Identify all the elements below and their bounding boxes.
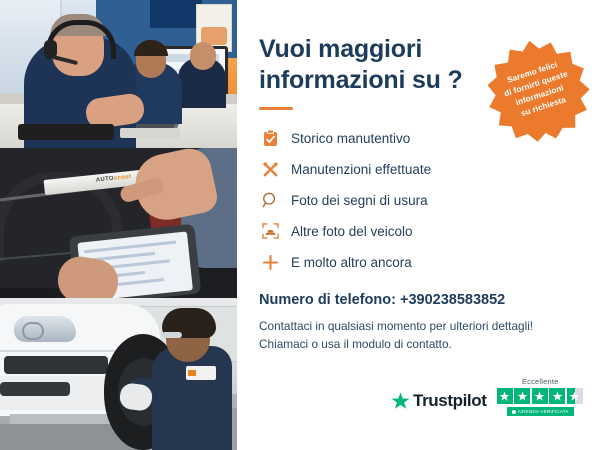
feature-item-more: E molto altro ancora bbox=[259, 252, 582, 272]
verified-dot-icon bbox=[512, 410, 516, 414]
phone-number[interactable]: +390238583852 bbox=[400, 292, 505, 308]
star-1 bbox=[497, 388, 513, 404]
verified-badge: AZIENDA VERIFICATA bbox=[507, 407, 574, 416]
plus-icon bbox=[259, 252, 281, 272]
contact-text: Contattaci in qualsiasi momento per ulte… bbox=[259, 317, 582, 354]
verified-label: AZIENDA VERIFICATA bbox=[518, 409, 569, 414]
trustpilot-rating: Eccellente AZIENDA VERIFICATA bbox=[497, 377, 585, 416]
photo-tyre-inspection bbox=[0, 298, 237, 450]
title-underline bbox=[259, 107, 293, 110]
star-5 bbox=[567, 388, 583, 404]
feature-item-more-photos: Altre foto del veicolo bbox=[259, 221, 582, 241]
photo-call-center bbox=[0, 0, 237, 148]
callout-badge: Saremo felici di fornirti queste informa… bbox=[478, 30, 598, 150]
star-rating bbox=[497, 388, 585, 404]
tools-cross-icon bbox=[259, 159, 281, 179]
headset-icon bbox=[472, 51, 493, 70]
photo-column: AUTOscout bbox=[0, 0, 237, 450]
photo-vehicle-inspection: AUTOscout bbox=[0, 148, 237, 298]
feature-list: Storico manutentivo Manutenzioni effettu… bbox=[259, 128, 582, 272]
feature-label: Manutenzioni effettuate bbox=[291, 162, 431, 177]
feature-label: Foto dei segni di usura bbox=[291, 193, 428, 208]
rating-label: Eccellente bbox=[522, 377, 559, 386]
content-panel: Vuoi maggiori informazioni su ? Saremo f… bbox=[237, 0, 600, 450]
trustpilot-logo: Trustpilot bbox=[391, 391, 486, 411]
feature-item-wear-photos: Foto dei segni di usura bbox=[259, 190, 582, 210]
feature-label: E molto altro ancora bbox=[291, 255, 412, 270]
phone-label: Numero di telefono: bbox=[259, 292, 400, 308]
feature-label: Storico manutentivo bbox=[291, 131, 410, 146]
advertisement-card: AUTOscout bbox=[0, 0, 600, 450]
phone-line: Numero di telefono: +390238583852 bbox=[259, 292, 582, 308]
page-title: Vuoi maggiori informazioni su ? bbox=[259, 34, 474, 95]
magnifier-icon bbox=[259, 190, 281, 210]
trustpilot-wordmark: Trustpilot bbox=[413, 391, 486, 411]
star-4 bbox=[549, 388, 565, 404]
feature-item-maintenance-done: Manutenzioni effettuate bbox=[259, 159, 582, 179]
contact-line-2: Chiamaci o usa il modulo di contatto. bbox=[259, 335, 582, 353]
contact-line-1: Contattaci in qualsiasi momento per ulte… bbox=[259, 317, 582, 335]
clipboard-check-icon bbox=[259, 128, 281, 148]
star-2 bbox=[514, 388, 530, 404]
scan-vehicle-icon bbox=[259, 221, 281, 241]
star-3 bbox=[532, 388, 548, 404]
trustpilot-star-icon bbox=[391, 392, 410, 411]
trustpilot-widget[interactable]: Trustpilot Eccellente AZIENDA VERIFICATA bbox=[391, 377, 584, 416]
feature-label: Altre foto del veicolo bbox=[291, 224, 413, 239]
